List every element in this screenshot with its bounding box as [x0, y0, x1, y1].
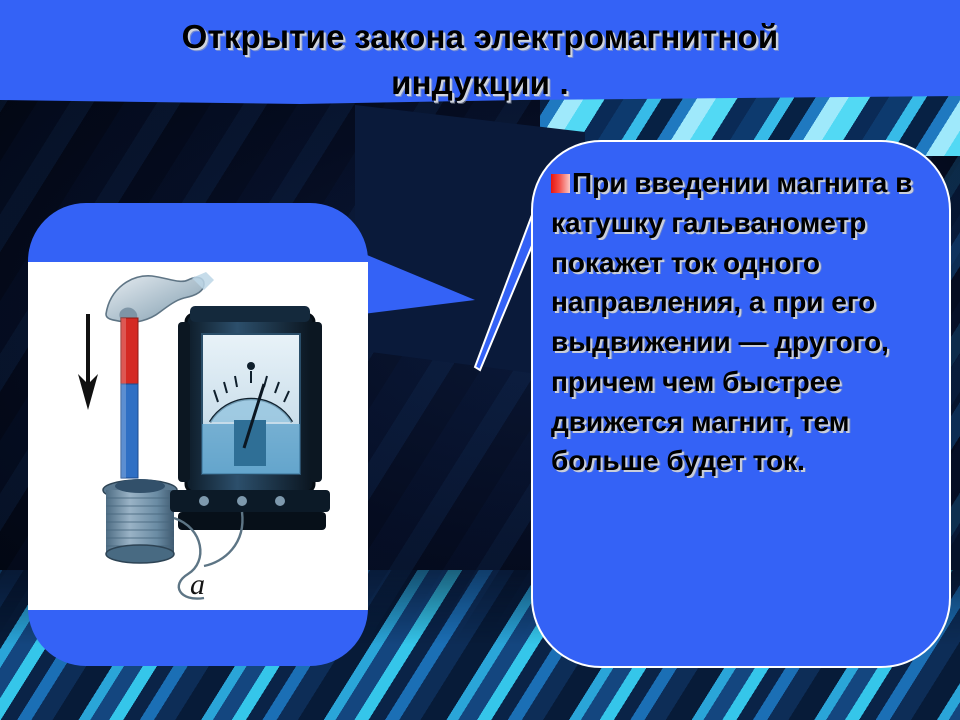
figure-caption: a — [190, 568, 205, 601]
coil-spool — [103, 479, 177, 563]
down-arrow-icon — [78, 314, 98, 410]
bar-magnet — [121, 318, 138, 478]
bullet-square-icon — [551, 174, 570, 193]
galvanometer — [170, 306, 330, 530]
content-paragraph: При введении магнита в катушку гальваном… — [551, 167, 912, 476]
content-paragraph-wrap: При введении магнита в катушку гальваном… — [551, 163, 947, 481]
page-title: Открытие закона электромагнитной индукци… — [0, 14, 960, 105]
title-line-1: Открытие закона электромагнитной — [0, 14, 960, 60]
slide-canvas: Открытие закона электромагнитной индукци… — [0, 0, 960, 720]
title-line-2: индукции . — [0, 60, 960, 106]
figure-illustration: a — [28, 262, 368, 610]
